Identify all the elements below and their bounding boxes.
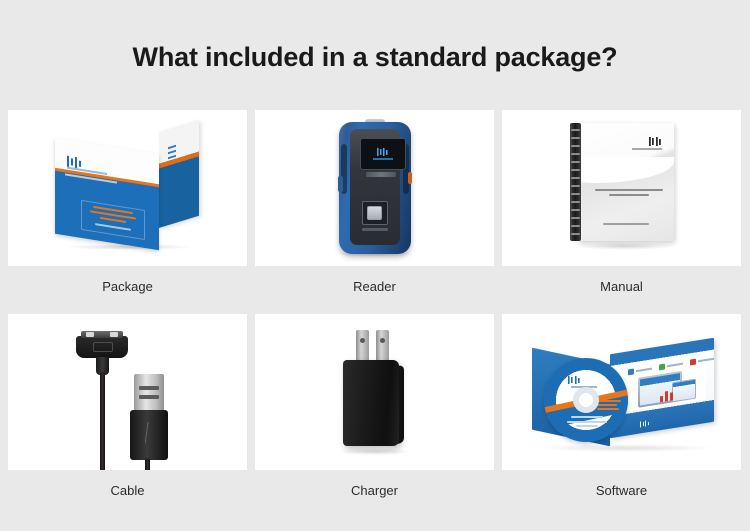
charger-drop-shadow [340,448,410,455]
package-contents-page: What included in a standard package? [0,0,750,531]
grid-item-package[interactable]: Package [8,110,247,306]
disc-center-hole [573,387,599,413]
reader-bottom-marking [362,228,388,231]
product-image-panel-reader[interactable] [255,110,494,266]
grid-item-cable[interactable]: Cable [8,314,247,510]
product-box-image [8,110,247,266]
charger-prong-left [356,330,369,362]
software-drop-shadow [538,444,714,452]
manual-cover [578,123,674,241]
manual-drop-shadow [574,242,676,250]
cable-wire-left [100,372,105,470]
grid-item-manual[interactable]: Manual [502,110,741,306]
spiral-binding-icon [570,123,581,241]
caption-software: Software [502,470,741,510]
manual-title-text [594,189,664,199]
wall-charger-image [255,314,494,470]
reader-housing [339,122,411,254]
sleeve-footer-logo-icon [640,420,649,427]
charger-prong-right [376,330,389,362]
chart-bars-icon [660,390,673,402]
caption-reader: Reader [255,266,494,306]
device-connector-head [76,336,128,358]
handheld-reader-image [255,110,494,266]
usb-a-plug-body [130,410,168,460]
reader-display-screen [360,138,406,170]
caption-manual: Manual [502,266,741,306]
reader-front-panel [350,129,400,245]
grid-item-software[interactable]: Software [502,314,741,510]
disc-tagline-text [566,416,608,430]
disc-brand-logo-icon [568,376,580,384]
caption-charger: Charger [255,470,494,510]
tablet-icon [672,379,696,403]
product-grid: Package [8,110,742,510]
manual-brand-logo-icon [649,137,662,146]
disc-orange-text [597,400,621,412]
software-screenshot [618,355,706,413]
caption-cable: Cable [8,470,247,510]
page-title: What included in a standard package? [0,0,750,73]
reader-model-label [366,172,396,177]
box-tagline-block [81,200,145,240]
grid-item-reader[interactable]: Reader [255,110,494,306]
cable-wire-right [145,458,150,470]
reader-side-button-right [408,172,412,184]
manual-logo-subtext [632,148,662,150]
grid-item-charger[interactable]: Charger [255,314,494,510]
caption-package: Package [8,266,247,306]
product-image-panel-package[interactable] [8,110,247,266]
box-side-face [159,120,199,228]
installation-disc [544,358,628,442]
product-image-panel-manual[interactable] [502,110,741,266]
software-cd-image [502,314,741,470]
usb-a-metal-shell [134,374,164,412]
reader-side-button-left [338,176,343,192]
fingerprint-sensor-icon [362,201,388,225]
usb-cable-image [8,314,247,470]
manual-footer-text [603,223,649,225]
product-image-panel-charger[interactable] [255,314,494,470]
user-manual-image [502,110,741,266]
screen-brand-logo-icon [377,148,388,156]
charger-body [343,360,399,446]
product-image-panel-cable[interactable] [8,314,247,470]
box-side-logo-icon [167,144,177,187]
product-image-panel-software[interactable] [502,314,741,470]
box-front-face [55,138,159,250]
